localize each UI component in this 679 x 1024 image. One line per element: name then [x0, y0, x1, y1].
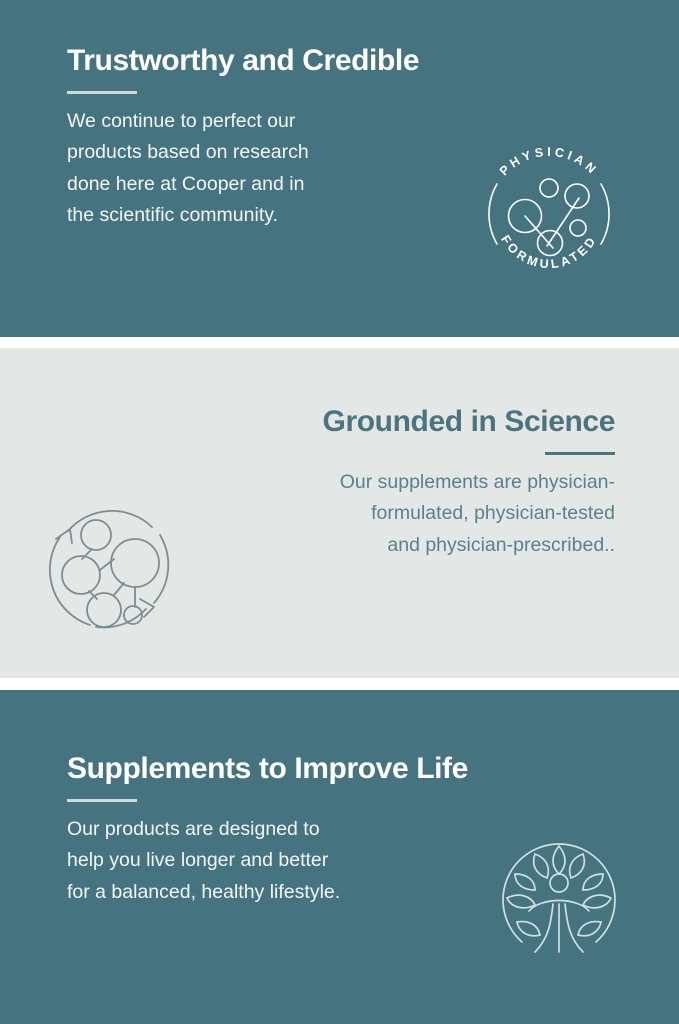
panel-3-body: Our products are designed to help you li…: [67, 814, 447, 909]
panel-1-body-line-4: the scientific community.: [67, 204, 278, 226]
person-tree-leaves-icon: [491, 826, 627, 962]
panel-2-divider-rule: [545, 452, 615, 455]
panel-grounded-in-science: Grounded in Science Our supplements are …: [0, 348, 679, 678]
panel-3-divider-rule: [67, 799, 137, 802]
badge-top-arc-text: PHYSICIAN: [497, 145, 601, 179]
panel-2-body-line-2: formulated, physician-tested: [371, 502, 615, 524]
panel-1-text-block: Trustworthy and Credible We continue to …: [67, 44, 407, 232]
panel-1-body-line-2: products based on research: [67, 141, 309, 163]
panel-trustworthy-and-credible: Trustworthy and Credible We continue to …: [0, 0, 679, 337]
panel-2-body-line-3: and physician-prescribed..: [387, 534, 615, 556]
panel-2-body: Our supplements are physician- formulate…: [240, 467, 615, 562]
panel-1-body-line-1: We continue to perfect our: [67, 110, 295, 132]
panel-2-heading: Grounded in Science: [240, 405, 615, 439]
panel-1-body-line-3: done here at Cooper and in: [67, 173, 304, 195]
panel-3-text-block: Supplements to Improve Life Our products…: [67, 752, 447, 908]
molecule-cycle-icon: [34, 487, 186, 639]
marketing-value-props-page: Trustworthy and Credible We continue to …: [0, 0, 679, 1024]
physician-formulated-badge-icon: PHYSICIAN FORMULATED: [475, 140, 623, 288]
panel-3-heading: Supplements to Improve Life: [67, 752, 447, 786]
panel-1-divider-rule: [67, 91, 137, 94]
panel-3-body-line-3: for a balanced, healthy lifestyle.: [67, 881, 340, 903]
panel-2-text-block: Grounded in Science Our supplements are …: [240, 405, 615, 561]
badge-bottom-arc-text: FORMULATED: [498, 233, 600, 272]
panel-divider-2: [0, 678, 679, 690]
panel-3-body-line-2: help you live longer and better: [67, 849, 328, 871]
panel-1-body: We continue to perfect our products base…: [67, 106, 407, 232]
panel-divider-1: [0, 337, 679, 348]
panel-2-body-line-1: Our supplements are physician-: [340, 471, 615, 493]
panel-supplements-to-improve-life: Supplements to Improve Life Our products…: [0, 690, 679, 1024]
svg-text:PHYSICIAN: PHYSICIAN: [497, 145, 601, 179]
panel-3-body-line-1: Our products are designed to: [67, 818, 320, 840]
svg-text:FORMULATED: FORMULATED: [498, 233, 600, 272]
panel-1-heading: Trustworthy and Credible: [67, 44, 407, 78]
